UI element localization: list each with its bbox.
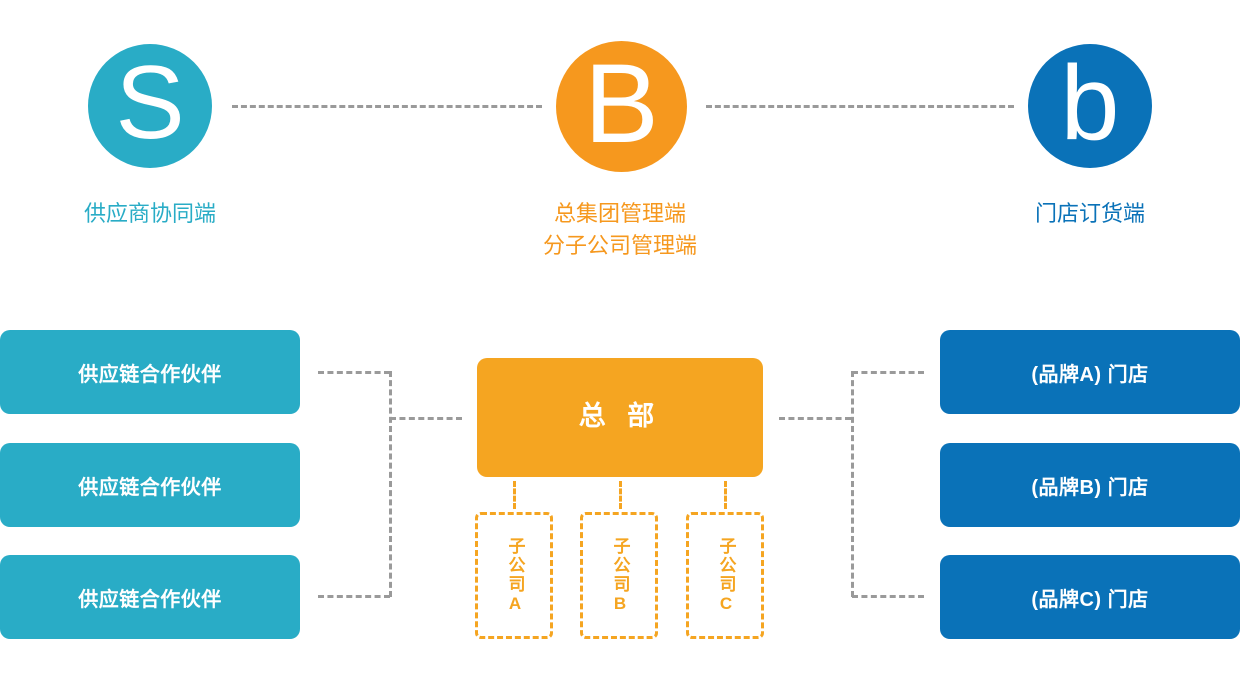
connector-store3-horizontal [852,595,924,598]
brand-store-box-c[interactable]: (品牌C) 门店 [940,555,1240,639]
letter-b-lowercase-glyph: b [1061,50,1120,156]
brand-store-label-a: (品牌A) 门店 [1031,358,1148,387]
supplier-partner-label-2: 供应链合作伙伴 [78,471,222,500]
connector-headquarters-to-subsidiary-a [513,481,516,509]
subsidiary-box-a[interactable]: 子公司A [475,512,553,639]
subsidiary-label-c: 子公司C [714,537,737,615]
role-label-store-line-1: 门店订货端 [940,198,1240,230]
connector-headquarters-to-stores [779,417,851,420]
letter-b-glyph: B [584,48,659,160]
connector-headquarters-to-subsidiary-b [619,481,622,509]
supplier-partner-label-1: 供应链合作伙伴 [78,358,222,387]
supplier-partner-box-1[interactable]: 供应链合作伙伴 [0,330,300,414]
subsidiary-box-c[interactable]: 子公司C [686,512,764,639]
supplier-partner-box-2[interactable]: 供应链合作伙伴 [0,443,300,527]
supplier-partner-label-3: 供应链合作伙伴 [78,583,222,612]
connector-supplier3-horizontal [318,595,390,598]
brand-store-label-c: (品牌C) 门店 [1031,583,1148,612]
connector-b-to-b-dashed-line [706,105,1014,108]
subsidiary-box-b[interactable]: 子公司B [580,512,658,639]
letter-b-lowercase-circle-icon: b [1028,44,1152,168]
role-label-store: 门店订货端 [940,198,1240,230]
letter-s-circle-icon: S [88,44,212,168]
brand-store-box-a[interactable]: (品牌A) 门店 [940,330,1240,414]
role-label-group: 总集团管理端 分子公司管理端 [450,198,790,262]
brand-store-label-b: (品牌B) 门店 [1031,471,1148,500]
role-label-supplier-line-1: 供应商协同端 [0,198,300,230]
role-label-group-line-1: 总集团管理端 [450,198,790,230]
connector-store1-horizontal [852,371,924,374]
diagram-canvas: S 供应商协同端 B 总集团管理端 分子公司管理端 b 门店订货端 供应链合作伙… [0,0,1240,680]
connector-supplier-vertical-trunk [389,371,392,597]
brand-store-box-b[interactable]: (品牌B) 门店 [940,443,1240,527]
headquarters-label: 总 部 [579,394,662,433]
subsidiary-label-b: 子公司B [608,537,631,615]
supplier-partner-box-3[interactable]: 供应链合作伙伴 [0,555,300,639]
letter-s-glyph: S [115,51,184,155]
connector-store-vertical-trunk [851,371,854,597]
role-label-group-line-2: 分子公司管理端 [450,230,790,262]
subsidiary-label-a: 子公司A [503,537,526,615]
connector-headquarters-to-subsidiary-c [724,481,727,509]
letter-b-circle-icon: B [556,41,687,172]
connector-supplier-to-headquarters [390,417,462,420]
role-label-supplier: 供应商协同端 [0,198,300,230]
connector-s-to-b-dashed-line [232,105,542,108]
headquarters-box[interactable]: 总 部 [477,358,763,477]
connector-supplier1-horizontal [318,371,390,374]
